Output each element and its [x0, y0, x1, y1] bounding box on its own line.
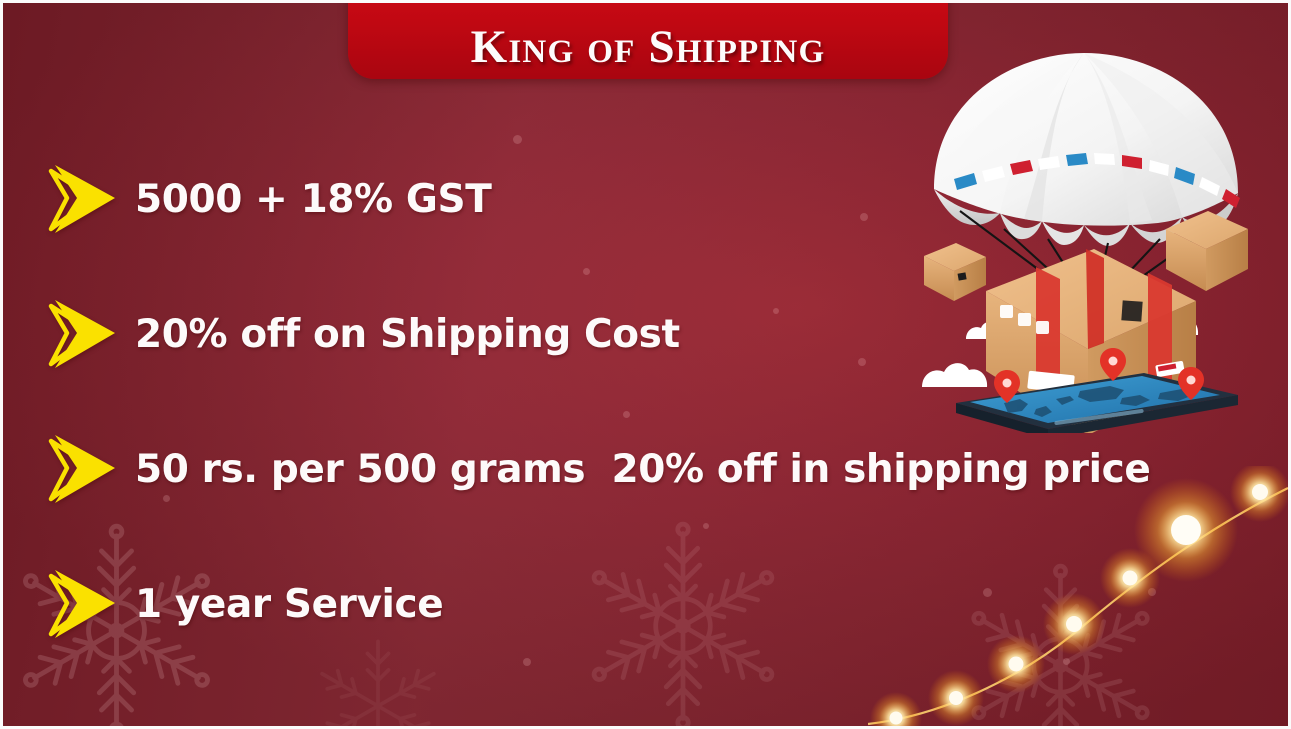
list-item: 50 rs. per 500 grams 20% off in shipping…	[47, 423, 1227, 515]
double-chevron-arrow-icon	[47, 431, 121, 507]
double-chevron-arrow-icon	[47, 161, 121, 237]
double-chevron-arrow-icon	[47, 296, 121, 372]
list-item: 20% off on Shipping Cost	[47, 288, 1227, 380]
list-item-label: 50 rs. per 500 grams 20% off in shipping…	[135, 450, 1150, 489]
feature-list: 5000 + 18% GST 20% off on Shipping Cost …	[47, 153, 1227, 693]
list-item-label: 20% off on Shipping Cost	[135, 315, 680, 354]
double-chevron-arrow-icon	[47, 566, 121, 642]
title-plate: King of Shipping	[348, 0, 948, 79]
list-item-label: 5000 + 18% GST	[135, 180, 491, 219]
list-item: 5000 + 18% GST	[47, 153, 1227, 245]
promo-banner: King of Shipping 5000 + 18% GST 20% off …	[0, 0, 1291, 729]
list-item: 1 year Service	[47, 558, 1227, 650]
page-title: King of Shipping	[471, 24, 826, 71]
decorative-dot	[513, 135, 522, 144]
list-item-label: 1 year Service	[135, 585, 443, 624]
